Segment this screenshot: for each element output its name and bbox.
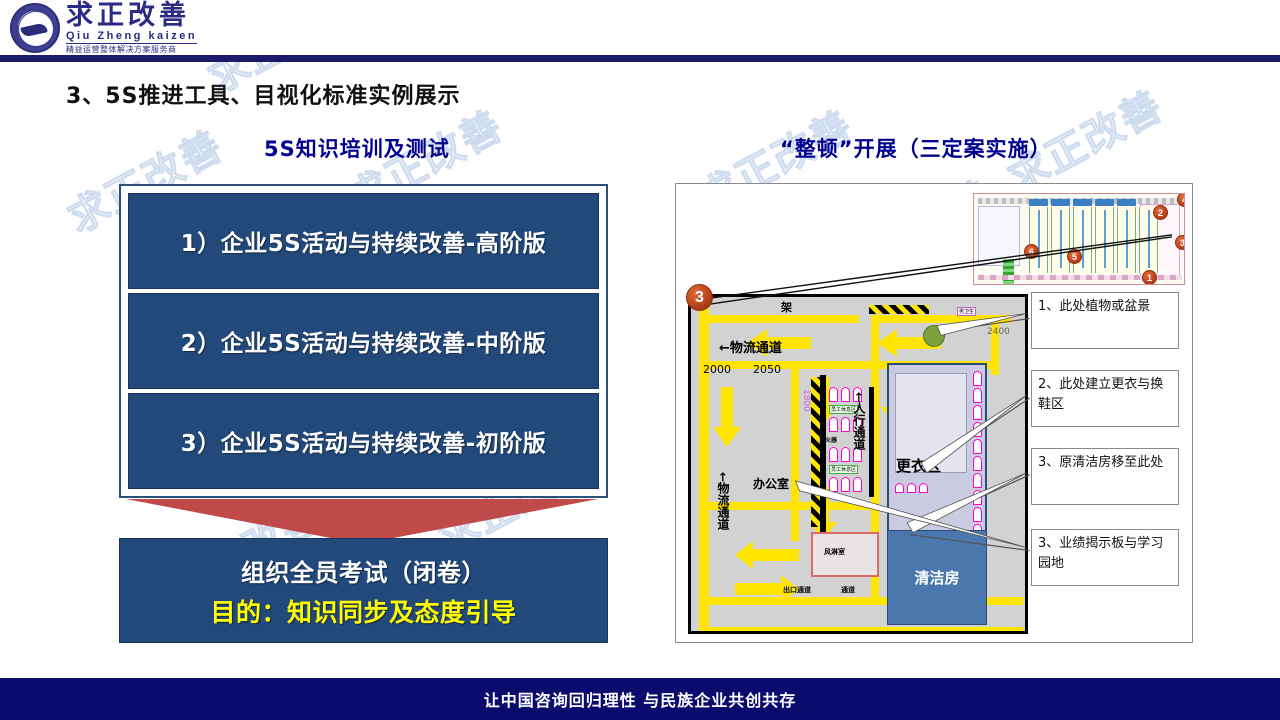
exam-purpose: 目的：知识同步及态度引导 xyxy=(210,593,516,629)
locker xyxy=(973,405,982,420)
inset-marker-1[interactable]: 1 xyxy=(1142,270,1157,285)
footer-slogan: 让中国咨询回归理性 与民族企业共创共存 xyxy=(484,687,797,711)
seat xyxy=(829,417,838,432)
wind-shower-room xyxy=(811,532,879,577)
label-aisle: 通道 xyxy=(841,585,855,595)
locker xyxy=(973,439,982,454)
left-column-heading: 5S知识培训及测试 xyxy=(264,133,450,163)
inset-production-line xyxy=(1051,207,1070,273)
zone-tag-rest-area: 员工休息区 xyxy=(829,465,858,474)
plan-wall xyxy=(820,375,826,535)
label-logistics-aisle-v: ←物流通道 xyxy=(715,472,732,530)
course-item-advanced[interactable]: 1）企业5S活动与持续改善-高阶版 xyxy=(128,193,599,289)
brand-text-block: 求正改善 Qiu Zheng kaizen 精益运营整体解决方案服务商 xyxy=(66,2,197,54)
training-course-panel: 1）企业5S活动与持续改善-高阶版 2）企业5S活动与持续改善-中阶版 3）企业… xyxy=(119,184,608,498)
inset-production-line xyxy=(1029,207,1048,273)
label-logistics-aisle-h: ←物流通道 xyxy=(719,337,782,356)
locker xyxy=(973,388,982,403)
inset-marker-3[interactable]: 3 xyxy=(1175,235,1185,250)
brand-name-en: Qiu Zheng kaizen xyxy=(66,31,197,44)
label-wind-shower: 风淋室 xyxy=(824,547,845,557)
locker xyxy=(973,507,982,522)
inset-line-head xyxy=(1073,199,1092,206)
dimension-2050: 2050 xyxy=(753,363,781,376)
dimension-1800: 1800 xyxy=(801,389,811,412)
bench xyxy=(895,483,904,493)
overview-plan-inset[interactable]: 1 2 3 4 5 6 xyxy=(973,193,1185,285)
label-changing-area: 更衣区 xyxy=(896,455,941,476)
brand-name-cn: 求正改善 xyxy=(66,2,197,29)
inset-line-head xyxy=(1029,199,1048,206)
seat xyxy=(841,387,850,402)
seat xyxy=(841,447,850,462)
seat xyxy=(841,477,850,492)
exam-title: 组织全员考试（闭卷） xyxy=(241,553,486,588)
inset-line-head xyxy=(1117,199,1136,206)
annotation-box-1: 1、此处植物或盆景 xyxy=(1031,292,1179,349)
inset-left-block xyxy=(978,206,1020,266)
brand-tagline: 精益运营整体解决方案服务商 xyxy=(66,46,197,54)
annotation-box-4: 3、业绩揭示板与学习园地 xyxy=(1031,529,1179,586)
enlarged-floor-plan[interactable]: 员工休息区 员工休息区 更衣区 清洁房 男卫生 风淋室 xyxy=(688,294,1028,634)
dimension-2000: 2000 xyxy=(703,363,731,376)
inset-marker-6[interactable]: 6 xyxy=(1024,244,1039,259)
hazard-stripe xyxy=(811,377,820,527)
inset-marker-5[interactable]: 5 xyxy=(1067,249,1082,264)
header-divider xyxy=(0,55,1280,62)
plan-wall xyxy=(869,387,874,497)
inset-line-head xyxy=(1051,199,1070,206)
seat-row xyxy=(829,477,862,492)
exam-summary-box: 组织全员考试（闭卷） 目的：知识同步及态度引导 xyxy=(119,538,608,643)
seat xyxy=(829,387,838,402)
bench xyxy=(919,483,928,493)
inset-green-zone xyxy=(1003,259,1014,285)
locker xyxy=(973,422,982,437)
annotation-box-2: 2、此处建立更衣与换鞋区 xyxy=(1031,370,1179,427)
label-office: 办公室 xyxy=(753,475,789,492)
footer-bar: 让中国咨询回归理性 与民族企业共创共存 xyxy=(0,678,1280,720)
inset-line-head xyxy=(1095,199,1114,206)
plant-marker-icon xyxy=(923,325,945,347)
company-logo-icon xyxy=(10,3,60,53)
label-rack: 架 xyxy=(781,299,792,315)
locker xyxy=(973,371,982,386)
inset-production-line xyxy=(1117,207,1136,273)
label-pedestrian-aisle: ←人行通道 xyxy=(851,392,868,450)
label-exit-aisle: 出口通道 xyxy=(783,585,811,595)
seat xyxy=(841,417,850,432)
locker xyxy=(973,490,982,505)
bench xyxy=(907,483,916,493)
hazard-stripe xyxy=(869,305,929,314)
dimension-2400: 2400 xyxy=(987,327,1010,337)
page-title: 3、5S推进工具、目视化标准实例展示 xyxy=(66,78,460,110)
inset-production-line xyxy=(1095,207,1114,273)
seat xyxy=(829,477,838,492)
callout-marker-3[interactable]: 3 xyxy=(686,284,713,311)
bench-row xyxy=(895,483,928,493)
seat xyxy=(829,447,838,462)
locker xyxy=(973,473,982,488)
inset-marker-2[interactable]: 2 xyxy=(1153,205,1168,220)
locker xyxy=(973,456,982,471)
annotation-box-3: 3、原清洁房移至此处 xyxy=(1031,448,1179,505)
locker-column xyxy=(973,371,982,539)
course-item-intermediate[interactable]: 2）企业5S活动与持续改善-中阶版 xyxy=(128,293,599,389)
clean-room-zone: 清洁房 xyxy=(887,530,987,625)
seat xyxy=(853,477,862,492)
course-item-basic[interactable]: 3）企业5S活动与持续改善-初阶版 xyxy=(128,393,599,489)
layout-diagram-panel: 1 2 3 4 5 6 3 xyxy=(675,183,1193,643)
label-fire-cabinet: 灭火器 xyxy=(819,435,837,444)
brand-logo: 求正改善 Qiu Zheng kaizen 精益运营整体解决方案服务商 xyxy=(10,2,197,54)
right-column-heading: “整顿”开展（三定案实施） xyxy=(780,133,1052,163)
header-bar: 求正改善 Qiu Zheng kaizen 精益运营整体解决方案服务商 xyxy=(0,0,1280,62)
zone-tag-restroom: 男卫生 xyxy=(957,307,976,316)
